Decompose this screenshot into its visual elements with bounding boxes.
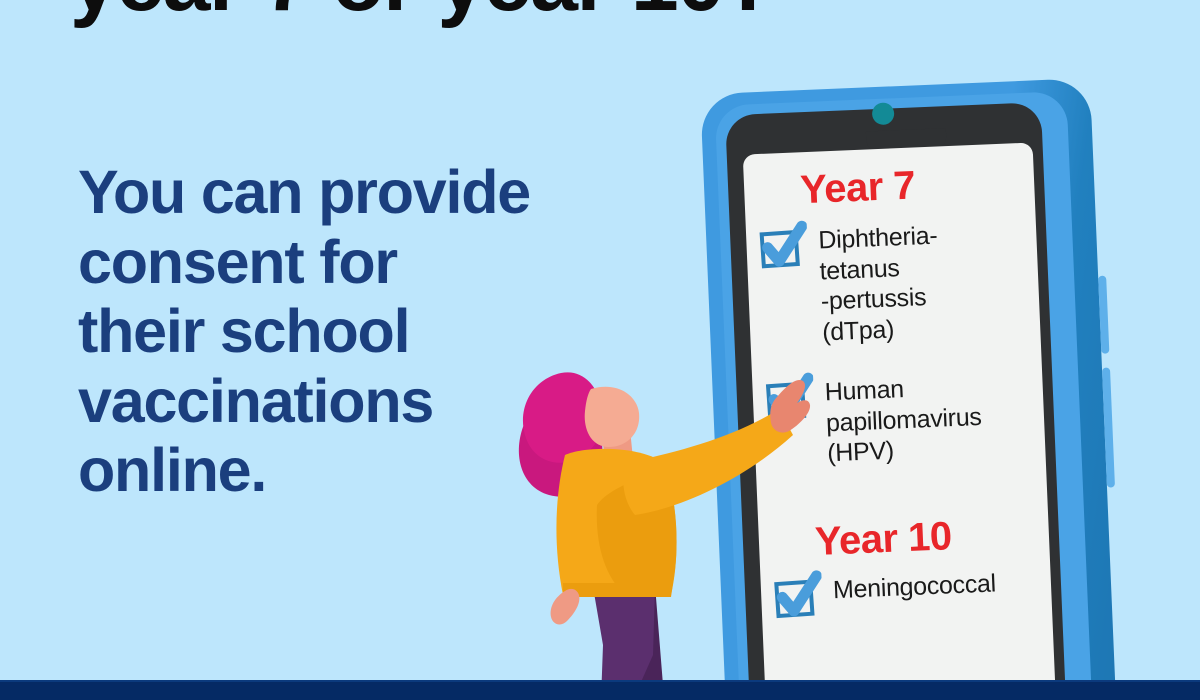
- body-copy-line-5: online.: [78, 436, 578, 506]
- section-heading-year-7: Year 7: [799, 161, 1026, 210]
- vaccine-line: papillomavirus: [825, 401, 982, 438]
- vaccine-line: tetanus: [819, 251, 939, 286]
- vaccine-line: (dTpa): [822, 312, 942, 347]
- top-headline-cutoff: year 7 or year 10?: [70, 0, 775, 24]
- character-illustration: [505, 355, 815, 700]
- poster-canvas: year 7 or year 10? You can provide conse…: [0, 0, 1200, 700]
- checklist-item-dtpa[interactable]: Diphtheria- tetanus -pertussis (dTpa): [760, 217, 1033, 350]
- vaccine-label-hpv: Human papillomavirus (HPV): [824, 371, 983, 469]
- bottom-band: [0, 680, 1200, 700]
- character-arm: [623, 409, 793, 515]
- body-copy: You can provide consent for their school…: [78, 158, 578, 506]
- body-copy-line-4: vaccinations: [78, 367, 578, 437]
- section-heading-year-10: Year 10: [814, 512, 1041, 561]
- vaccine-line: Diphtheria-: [818, 221, 938, 256]
- body-copy-line-3: their school: [78, 297, 578, 367]
- body-copy-line-1: You can provide: [78, 158, 578, 228]
- character-face: [585, 387, 639, 447]
- vaccine-label-meningococcal: Meningococcal: [832, 568, 996, 605]
- vaccine-label-dtpa: Diphtheria- tetanus -pertussis (dTpa): [818, 221, 942, 348]
- vaccine-line: (HPV): [827, 432, 984, 469]
- character-hand-resting: [551, 589, 580, 625]
- vaccine-line: Meningococcal: [832, 568, 996, 605]
- character-hand-pointing: [770, 380, 810, 433]
- vaccine-line: -pertussis: [820, 282, 940, 317]
- body-copy-line-2: consent for: [78, 228, 578, 298]
- checkbox-checked-icon[interactable]: [760, 228, 806, 270]
- character-jacket-hem: [563, 583, 673, 597]
